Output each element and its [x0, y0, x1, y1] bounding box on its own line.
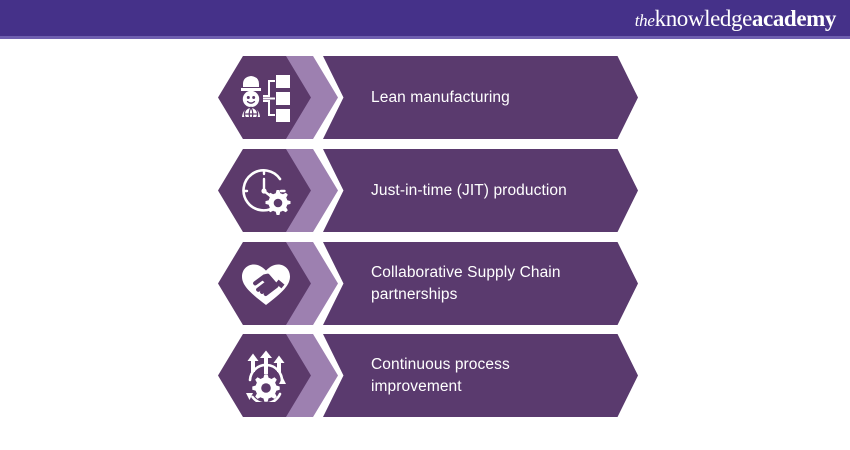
list-item-label: Collaborative Supply Chain partnerships — [323, 262, 587, 306]
clock-gear-icon — [240, 166, 292, 216]
arrows-gear-improvement-icon — [241, 350, 291, 402]
list-item[interactable]: Collaborative Supply Chain partnerships — [218, 242, 638, 325]
header-bar: theknowledgeacademy — [0, 0, 850, 36]
banner-chevron[interactable]: Lean manufacturing — [323, 56, 638, 139]
handshake-heart-icon — [240, 261, 292, 307]
brand-logo: theknowledgeacademy — [635, 7, 836, 30]
list-item[interactable]: Just-in-time (JIT) production — [218, 149, 638, 232]
list-item-label: Continuous process improvement — [323, 354, 536, 398]
banner-chevron[interactable]: Collaborative Supply Chain partnerships — [323, 242, 638, 325]
factory-worker-boxes-icon — [239, 74, 293, 122]
brand-the-text: the — [635, 12, 655, 29]
strategy-list: Lean manufacturing — [0, 40, 850, 450]
brand-academy-text: academy — [752, 7, 836, 30]
list-item[interactable]: Continuous process improvement — [218, 334, 638, 417]
list-item-label: Lean manufacturing — [323, 87, 536, 109]
banner-chevron[interactable]: Just-in-time (JIT) production — [323, 149, 638, 232]
list-item[interactable]: Lean manufacturing — [218, 56, 638, 139]
brand-knowledge-text: knowledge — [655, 7, 752, 30]
banner-chevron[interactable]: Continuous process improvement — [323, 334, 638, 417]
list-item-label: Just-in-time (JIT) production — [323, 180, 593, 202]
header-divider — [0, 36, 850, 39]
